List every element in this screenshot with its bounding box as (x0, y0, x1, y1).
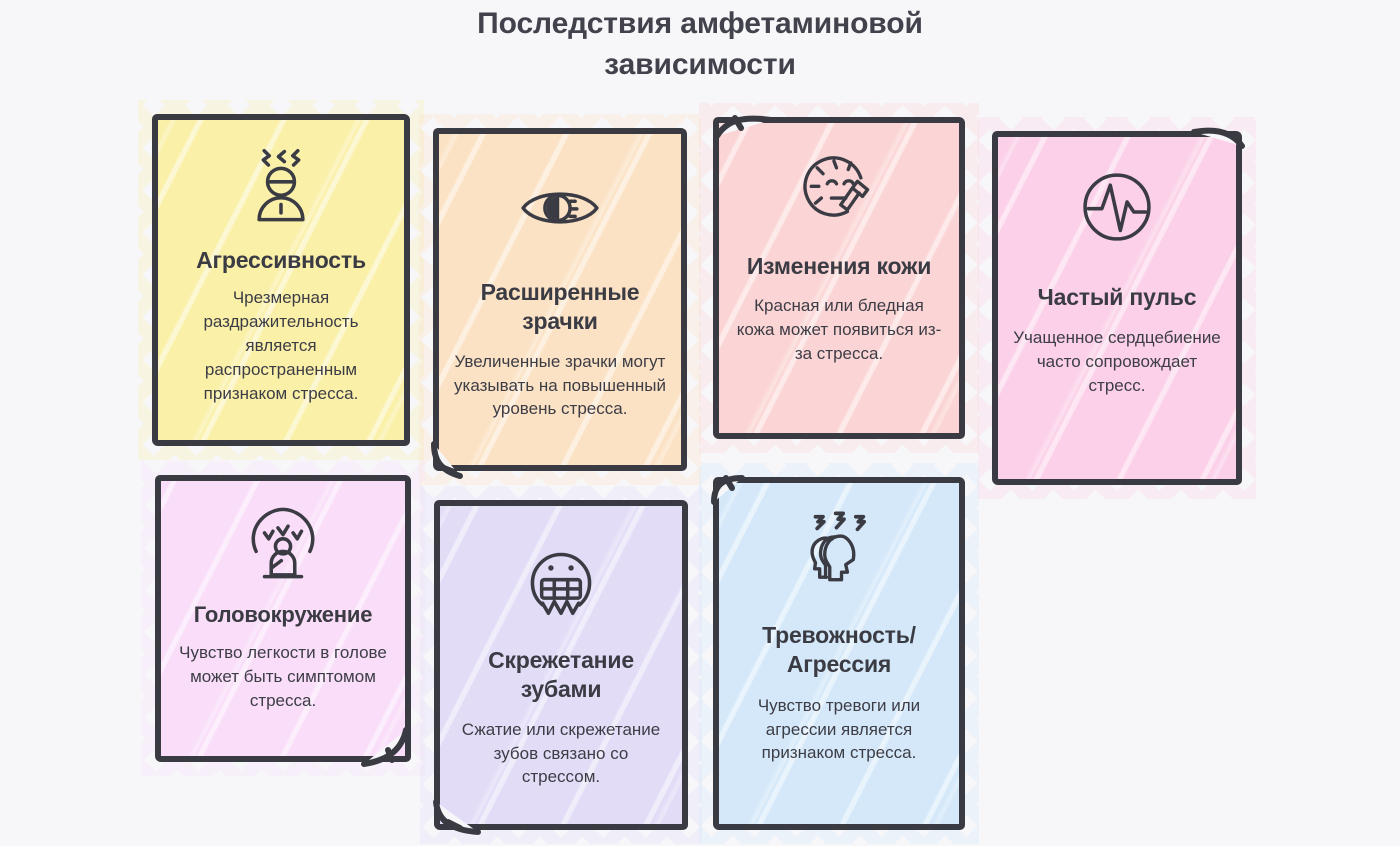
cards-board: Агрессивность Чрезмерная раздражительнос… (0, 0, 1400, 846)
dilated-eye-icon (518, 166, 602, 250)
two-heads-lightning-icon (797, 510, 881, 594)
card-description: Учащенное сердцебиение часто сопровождае… (1012, 326, 1222, 397)
card-description: Сжатие или скрежетание зубов связано со … (454, 718, 668, 789)
card-description: Чувство легкости в голове может быть сим… (175, 641, 391, 712)
card-description: Чувство тревоги или агрессии является пр… (733, 694, 945, 765)
card-anxiety-aggression[interactable]: Тревожность/ Агрессия Чувство тревоги ил… (713, 477, 965, 830)
card-title: Расширенные зрачки (453, 278, 667, 337)
grinding-teeth-face-icon (519, 536, 603, 620)
card-title: Головокружение (194, 601, 373, 629)
card-skin-changes[interactable]: Изменения кожи Красная или бледная кожа … (713, 117, 965, 439)
heartbeat-pulse-icon (1075, 165, 1159, 249)
face-with-brush-icon (797, 146, 881, 230)
card-title: Тревожность/ Агрессия (733, 621, 945, 680)
card-description: Красная или бледная кожа может появиться… (733, 294, 945, 365)
card-rapid-pulse[interactable]: Частый пульс Учащенное сердцебиение част… (992, 131, 1242, 485)
angry-person-icon (239, 144, 323, 228)
card-teeth-grinding[interactable]: Скрежетание зубами Сжатие или скрежетани… (434, 500, 688, 830)
card-dizziness[interactable]: Головокружение Чувство легкости в голове… (155, 475, 411, 762)
card-title: Скрежетание зубами (454, 646, 668, 705)
card-title: Изменения кожи (747, 252, 931, 281)
card-dilated-pupils[interactable]: Расширенные зрачки Увеличенные зрачки мо… (433, 128, 687, 471)
card-description: Чрезмерная раздражительность является ра… (172, 286, 390, 405)
dizzy-person-icon (241, 501, 325, 585)
card-aggression[interactable]: Агрессивность Чрезмерная раздражительнос… (152, 114, 410, 446)
card-title: Частый пульс (1038, 283, 1197, 312)
card-title: Агрессивность (196, 246, 366, 275)
card-description: Увеличенные зрачки могут указывать на по… (453, 350, 667, 421)
